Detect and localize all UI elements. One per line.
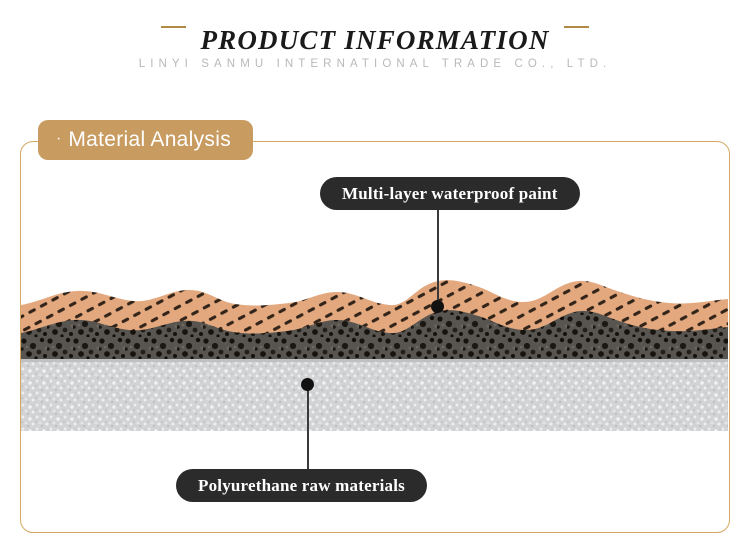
- page-header: PRODUCT INFORMATION LINYI SANMU INTERNAT…: [0, 0, 750, 100]
- callout-waterproof-paint-label: Multi-layer waterproof paint: [342, 184, 558, 204]
- company-subtitle: LINYI SANMU INTERNATIONAL TRADE CO., LTD…: [0, 58, 750, 70]
- section-badge-material-analysis[interactable]: · Material Analysis: [38, 120, 253, 160]
- leader-dot-top: [431, 300, 444, 313]
- leader-dot-bottom: [301, 378, 314, 391]
- page-title: PRODUCT INFORMATION: [186, 25, 563, 56]
- badge-bullet-icon: ·: [56, 131, 61, 147]
- leader-line-bottom: [307, 388, 309, 470]
- polyurethane-layer: [21, 359, 728, 431]
- cross-section-svg: [21, 271, 728, 431]
- section-badge-label: Material Analysis: [68, 128, 231, 152]
- callout-polyurethane-label: Polyurethane raw materials: [198, 476, 405, 496]
- leader-line-top: [437, 210, 439, 306]
- callout-waterproof-paint[interactable]: Multi-layer waterproof paint: [320, 177, 580, 210]
- callout-polyurethane[interactable]: Polyurethane raw materials: [176, 469, 427, 502]
- page-title-container: PRODUCT INFORMATION: [0, 22, 750, 58]
